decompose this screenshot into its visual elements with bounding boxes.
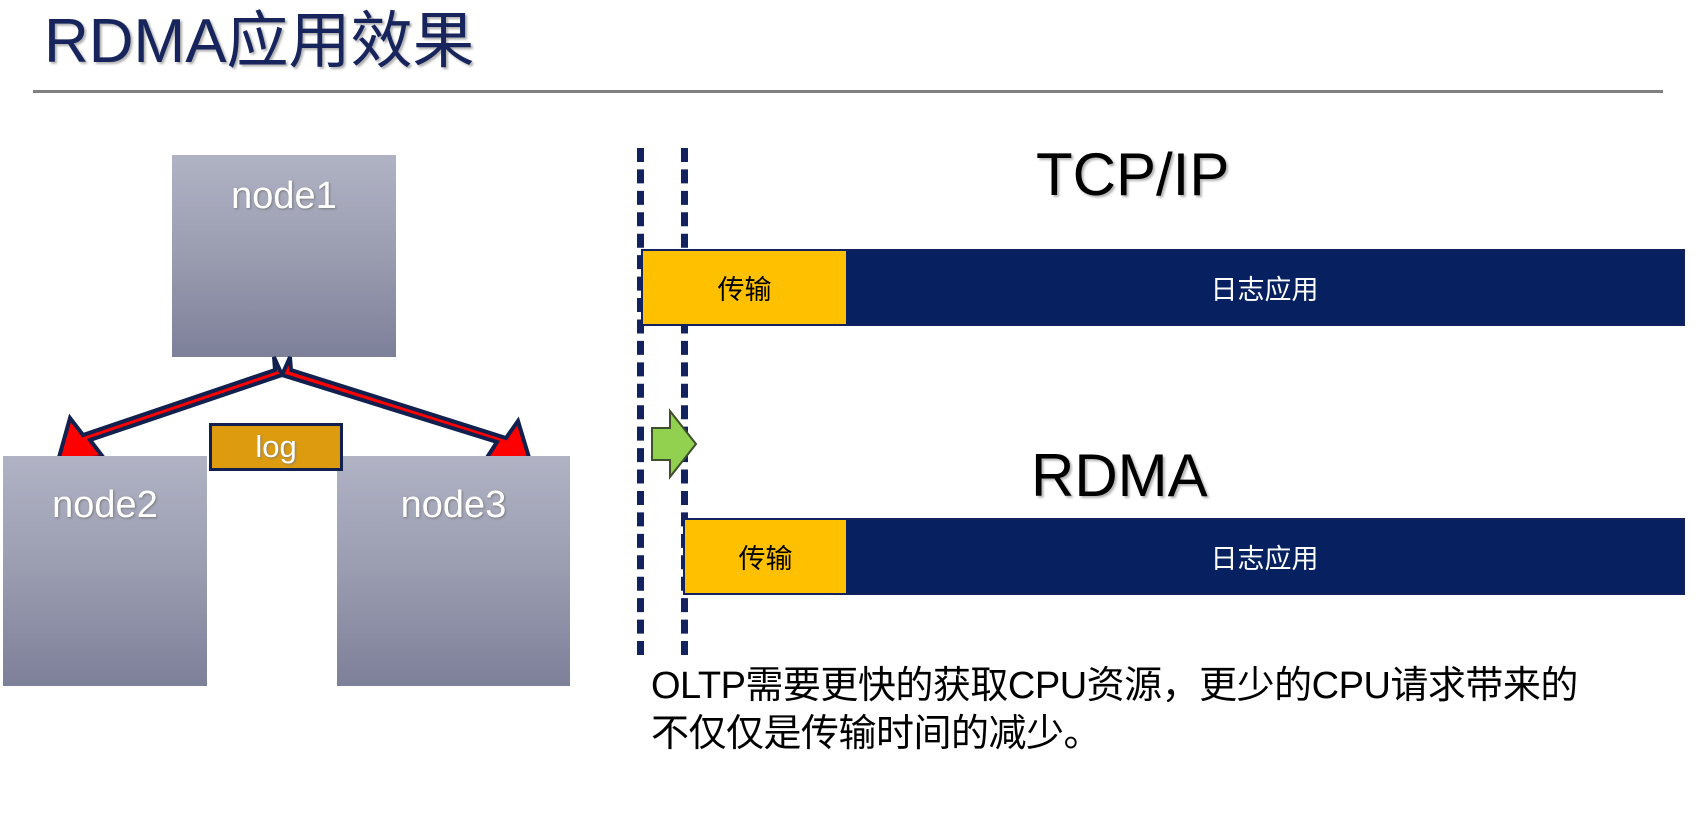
bar-segment-log-apply: 日志应用 bbox=[846, 520, 1683, 593]
timing-bar-rdma: 传输 日志应用 bbox=[683, 518, 1685, 595]
bar-segment-log-apply: 日志应用 bbox=[846, 251, 1683, 324]
protocol-label-tcpip: TCP/IP bbox=[1036, 139, 1229, 211]
protocol-label-rdma: RDMA bbox=[1031, 440, 1208, 512]
guide-line-tcp-start bbox=[637, 148, 644, 655]
bar-segment-transfer: 传输 bbox=[643, 251, 846, 324]
time-saved-arrow-icon bbox=[640, 408, 700, 480]
timing-comparison-chart: TCP/IP 传输 日志应用 RDMA 传输 日志应用 OLTP需要更快的获取C… bbox=[0, 0, 1696, 826]
timing-bar-tcpip: 传输 日志应用 bbox=[641, 249, 1685, 326]
bar-segment-transfer: 传输 bbox=[685, 520, 846, 593]
chart-caption: OLTP需要更快的获取CPU资源，更少的CPU请求带来的不仅仅是传输时间的减少。 bbox=[651, 662, 1581, 758]
